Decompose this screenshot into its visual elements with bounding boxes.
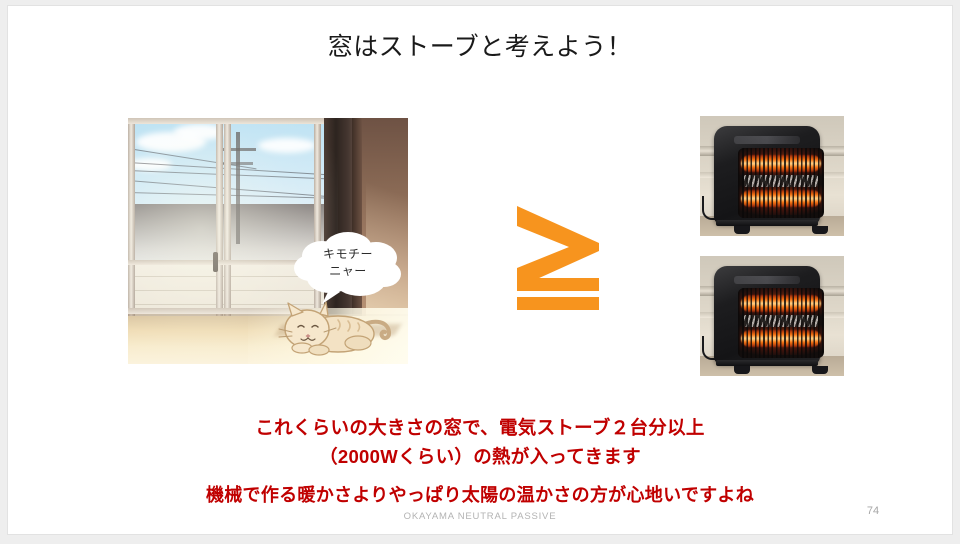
window-latch: [213, 252, 218, 272]
heater-body: [714, 266, 820, 364]
speech-bubble-text: キモチー ニャー: [288, 246, 408, 280]
heater-control-panel: [734, 136, 800, 144]
heater-base: [716, 220, 818, 226]
heater-foot: [734, 366, 750, 374]
footer-brand: OKAYAMA NEUTRAL PASSIVE: [8, 511, 952, 522]
caption-line-1: これくらいの大きさの窓で、電気ストーブ２台分以上: [8, 414, 952, 440]
heater-safety-grill: [738, 288, 824, 358]
heater-safety-grill: [738, 148, 824, 218]
heater-foot: [734, 226, 750, 234]
page-number: 74: [853, 505, 893, 517]
heater-body: [714, 126, 820, 224]
electric-heater-photo-1: [700, 116, 844, 236]
window-room-photo: キモチー ニャー: [128, 118, 408, 364]
cloud-shape: [258, 138, 316, 153]
greater-than-or-equal-icon: [513, 198, 603, 316]
cat-speech-bubble: キモチー ニャー: [288, 230, 408, 308]
heater-foot: [812, 226, 828, 234]
speech-line-1: キモチー: [288, 246, 408, 263]
heater-grill-window: [738, 288, 824, 358]
window-frame-horizontal: [128, 118, 324, 124]
heater-base: [716, 360, 818, 366]
heater-foot: [812, 366, 828, 374]
electric-heater-photo-2: [700, 256, 844, 376]
slide-sheet: 窓はストーブと考えよう！: [8, 6, 952, 534]
caption-line-3: 機械で作る暖かさよりやっぱり太陽の温かさの方が心地いですよね: [8, 481, 952, 507]
speech-line-2: ニャー: [288, 263, 408, 280]
heater-control-panel: [734, 276, 800, 284]
screenshot-stage: 窓はストーブと考えよう！: [0, 0, 960, 544]
heater-grill-window: [738, 148, 824, 218]
caption-line-2: （2000Wくらい）の熱が入ってきます: [8, 443, 952, 469]
page-title: 窓はストーブと考えよう！: [8, 27, 952, 63]
